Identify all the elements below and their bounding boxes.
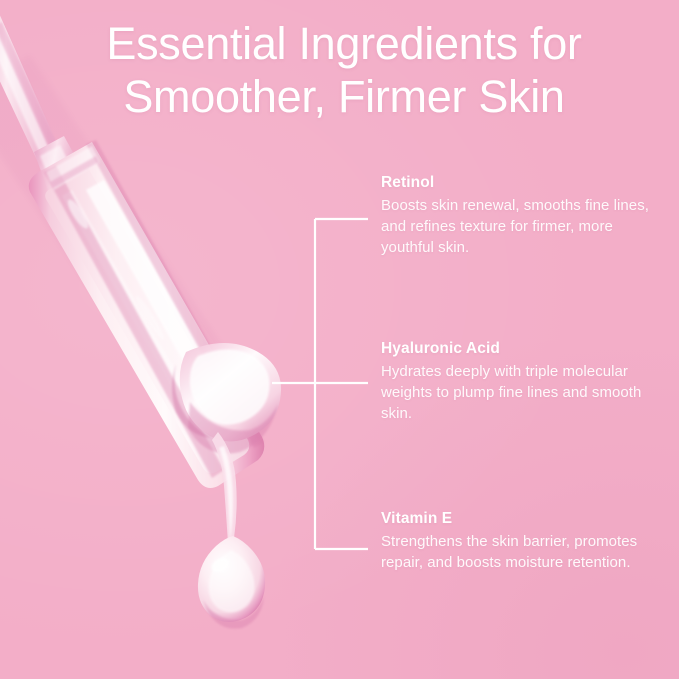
ingredient-block-hyaluronic-acid: Hyaluronic Acid Hydrates deeply with tri… [381,340,657,424]
ingredient-description: Strengthens the skin barrier, promotes r… [381,531,657,574]
ingredient-description: Hydrates deeply with triple molecular we… [381,361,657,425]
ingredient-name: Hyaluronic Acid [381,340,657,359]
ingredient-infographic: Essential Ingredients for Smoother, Firm… [0,0,679,679]
ingredient-block-retinol: Retinol Boosts skin renewal, smooths fin… [381,174,657,258]
ingredient-description: Boosts skin renewal, smooths fine lines,… [381,195,657,259]
ingredient-name: Vitamin E [381,510,657,529]
ingredient-name: Retinol [381,174,657,193]
ingredient-block-vitamin-e: Vitamin E Strengthens the skin barrier, … [381,510,657,573]
